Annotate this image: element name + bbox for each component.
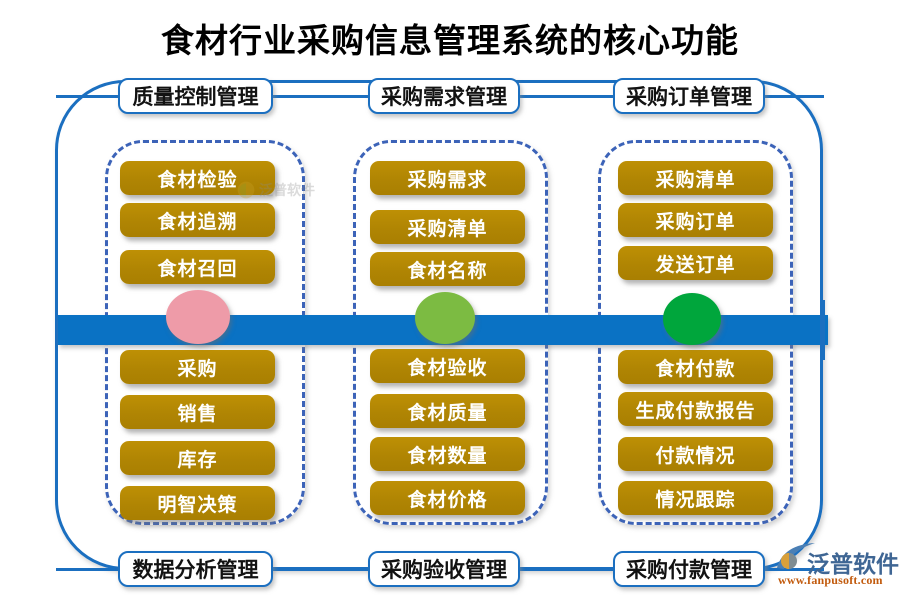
item-analysis-3[interactable]: 库存	[120, 441, 275, 475]
item-label: 发送订单	[655, 250, 735, 277]
connector-top-mid-2	[517, 95, 620, 98]
brand-logo: 泛普软件 www.fanpusoft.com	[775, 544, 895, 596]
page-title: 食材行业采购信息管理系统的核心功能	[0, 14, 900, 62]
header-box-label: 采购需求管理	[381, 81, 507, 111]
item-label: 食材价格	[407, 485, 487, 512]
item-acceptance-4[interactable]: 食材价格	[370, 481, 525, 515]
item-label: 食材召回	[157, 254, 237, 281]
item-payment-2[interactable]: 生成付款报告	[618, 392, 773, 426]
item-label: 食材名称	[407, 256, 487, 283]
item-label: 食材追溯	[157, 207, 237, 234]
connector-bottom-left	[56, 568, 122, 571]
item-label: 食材付款	[655, 354, 735, 381]
header-box-purchase-order[interactable]: 采购订单管理	[613, 78, 765, 114]
item-label: 明智决策	[157, 490, 237, 517]
item-demand-1[interactable]: 采购需求	[370, 161, 525, 195]
header-box-quality-control[interactable]: 质量控制管理	[118, 78, 273, 114]
item-order-3[interactable]: 发送订单	[618, 246, 773, 280]
connector-top-right	[762, 95, 824, 98]
connector-top-left	[56, 95, 122, 98]
item-label: 情况跟踪	[655, 485, 735, 512]
item-acceptance-1[interactable]: 食材验收	[370, 349, 525, 383]
connector-bottom-mid-2	[517, 568, 620, 571]
item-acceptance-2[interactable]: 食材质量	[370, 394, 525, 428]
item-demand-2[interactable]: 采购清单	[370, 210, 525, 244]
item-analysis-2[interactable]: 销售	[120, 395, 275, 429]
item-quality-1[interactable]: 食材检验	[120, 161, 275, 195]
item-label: 食材验收	[407, 353, 487, 380]
item-label: 采购	[177, 354, 217, 381]
footer-box-label: 采购付款管理	[626, 554, 752, 584]
footer-box-data-analysis[interactable]: 数据分析管理	[118, 551, 273, 587]
footer-box-payment[interactable]: 采购付款管理	[613, 551, 765, 587]
header-box-purchase-demand[interactable]: 采购需求管理	[368, 78, 520, 114]
diagram-canvas: 食材行业采购信息管理系统的核心功能 质量控制管理 采购需求管理 采购订单管理 数…	[0, 0, 900, 600]
item-label: 食材质量	[407, 398, 487, 425]
item-payment-4[interactable]: 情况跟踪	[618, 481, 773, 515]
item-label: 食材检验	[157, 165, 237, 192]
item-payment-3[interactable]: 付款情况	[618, 437, 773, 471]
item-label: 采购清单	[655, 165, 735, 192]
item-label: 食材数量	[407, 441, 487, 468]
item-quality-3[interactable]: 食材召回	[120, 250, 275, 284]
header-box-label: 质量控制管理	[133, 81, 259, 111]
item-label: 生成付款报告	[635, 396, 755, 423]
logo-url: www.fanpusoft.com	[778, 573, 883, 588]
item-label: 付款情况	[655, 441, 735, 468]
pink-node-ellipse	[166, 290, 230, 344]
item-label: 采购订单	[655, 207, 735, 234]
footer-box-acceptance[interactable]: 采购验收管理	[368, 551, 520, 587]
item-order-1[interactable]: 采购清单	[618, 161, 773, 195]
connector-top-mid-1	[270, 95, 376, 98]
footer-box-label: 数据分析管理	[133, 554, 259, 584]
header-box-label: 采购订单管理	[626, 81, 752, 111]
item-analysis-1[interactable]: 采购	[120, 350, 275, 384]
item-label: 采购需求	[407, 165, 487, 192]
item-acceptance-3[interactable]: 食材数量	[370, 437, 525, 471]
item-analysis-4[interactable]: 明智决策	[120, 486, 275, 520]
process-flow-bar-end-cap	[820, 300, 825, 360]
item-demand-3[interactable]: 食材名称	[370, 252, 525, 286]
item-label: 库存	[177, 445, 217, 472]
item-quality-2[interactable]: 食材追溯	[120, 203, 275, 237]
connector-bottom-mid-1	[270, 568, 376, 571]
footer-box-label: 采购验收管理	[381, 554, 507, 584]
item-payment-1[interactable]: 食材付款	[618, 350, 773, 384]
dark-green-node-ellipse	[663, 293, 721, 345]
item-label: 采购清单	[407, 214, 487, 241]
item-order-2[interactable]: 采购订单	[618, 203, 773, 237]
light-green-node-ellipse	[415, 292, 475, 344]
item-label: 销售	[177, 399, 217, 426]
